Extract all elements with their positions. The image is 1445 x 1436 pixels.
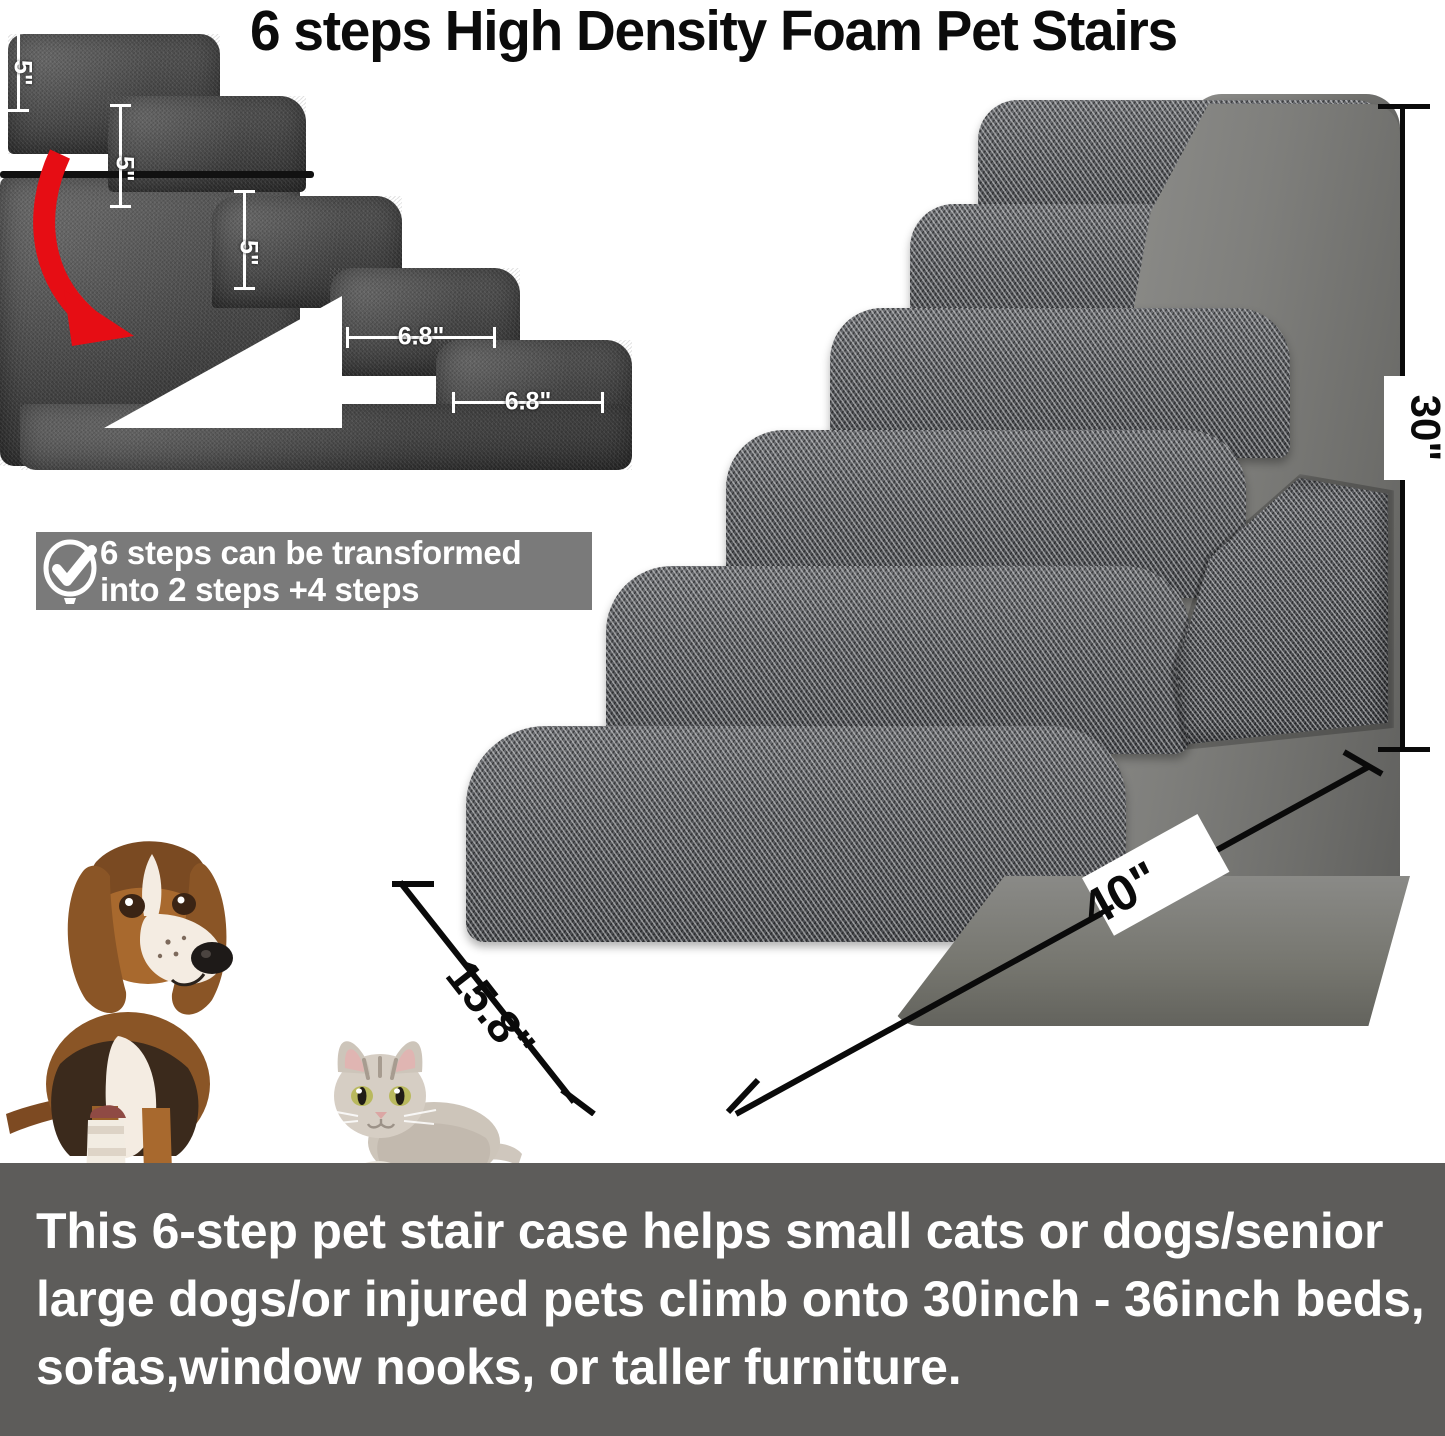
dog-photo — [0, 796, 330, 1186]
dimension-height-30in: 30" — [1378, 104, 1440, 752]
check-circle-icon — [42, 538, 102, 604]
inset-dim-label: 5" — [234, 240, 263, 266]
caption-bar: This 6-step pet stair case helps small c… — [0, 1163, 1445, 1436]
dimension-length-40in: 40" — [700, 740, 1400, 1120]
dimension-label-height: 30" — [1401, 395, 1445, 462]
cat-photo — [312, 1026, 524, 1184]
inset-dim-label: 5" — [8, 60, 37, 86]
caption-text: This 6-step pet stair case helps small c… — [36, 1197, 1426, 1401]
infographic-canvas: 6 steps High Density Foam Pet Stairs 5" … — [0, 0, 1445, 1436]
inset-dim-label: 5" — [110, 156, 139, 182]
